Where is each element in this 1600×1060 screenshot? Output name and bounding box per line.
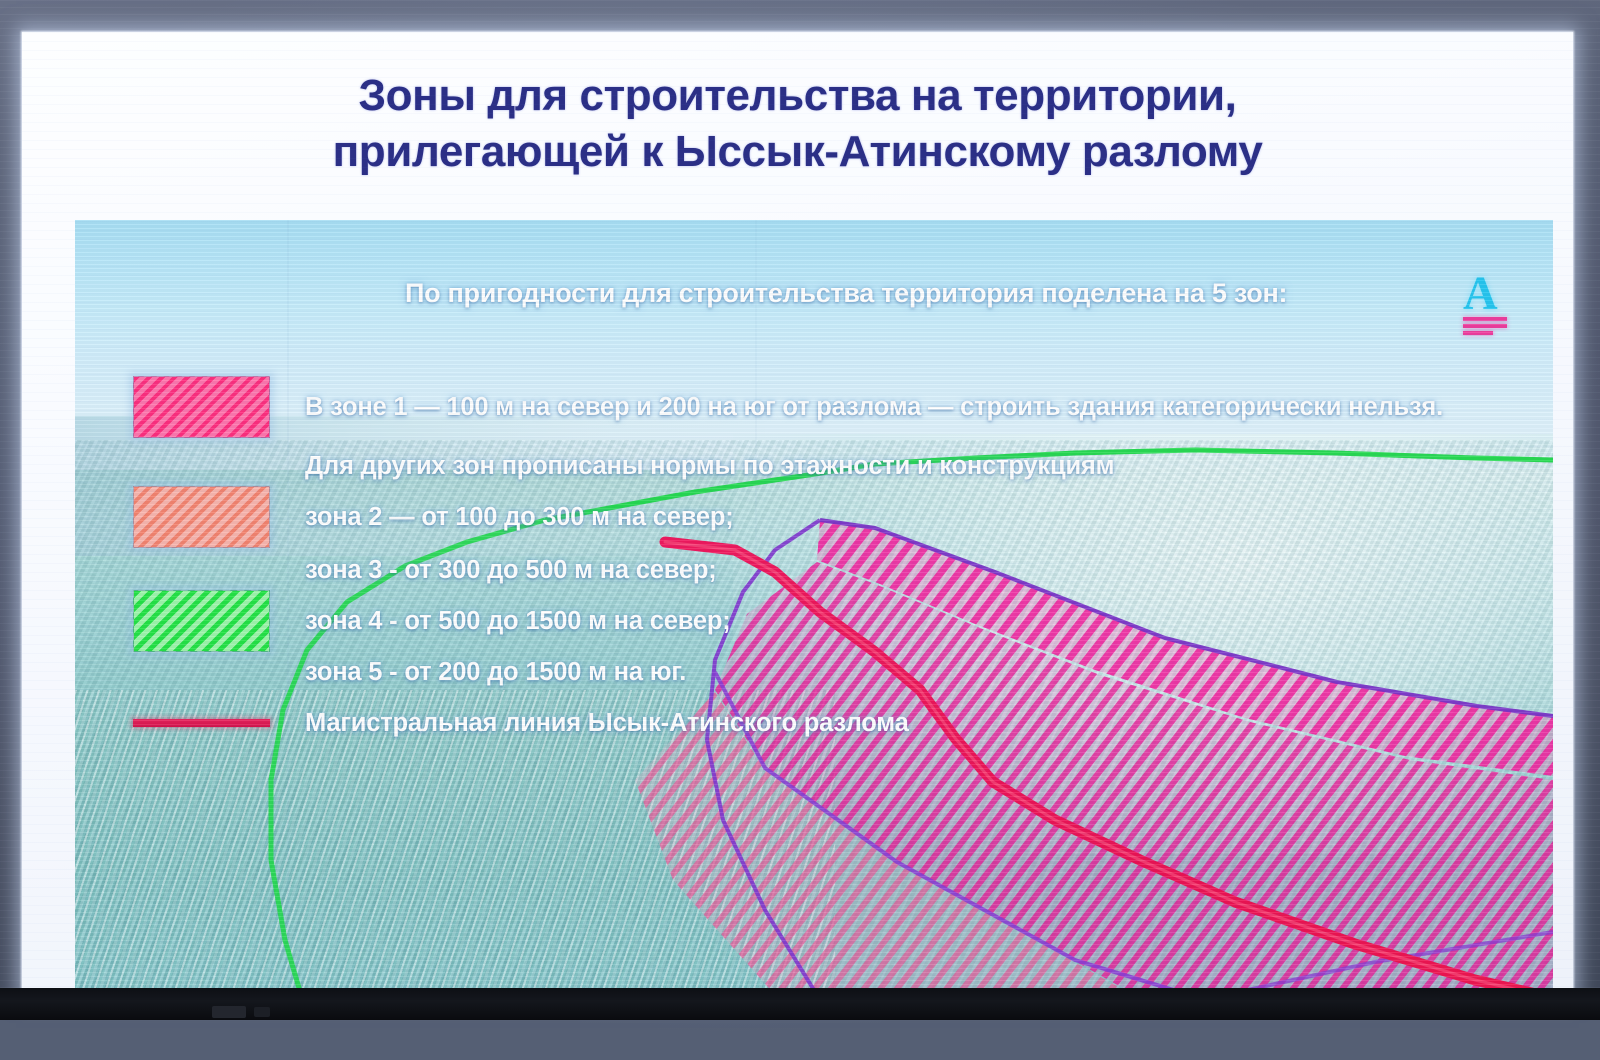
- legend-swatch-cell: [97, 590, 305, 652]
- legend-row: зона 5 - от 200 до 1500 м на юг.: [97, 646, 1527, 698]
- page-title: Зоны для строительства на территории, пр…: [22, 68, 1573, 181]
- map-legend: В зоне 1 — 100 м на север и 200 на юг от…: [97, 372, 1527, 748]
- legend-row: зона 4 - от 500 до 1500 м на север;: [97, 596, 1527, 646]
- legend-swatch-cell: [97, 376, 305, 438]
- legend-row: Магистральная линия Ысык-Атинского разло…: [97, 698, 1527, 748]
- legend-row-label: В зоне 1 — 100 м на север и 200 на юг от…: [305, 393, 1443, 422]
- logo-bar-3: [1463, 331, 1493, 335]
- zone-1-swatch: [133, 376, 270, 438]
- legend-row-label: зона 4 - от 500 до 1500 м на север;: [305, 607, 731, 636]
- logo-bar-2: [1463, 324, 1507, 328]
- legend-row: В зоне 1 — 100 м на север и 200 на юг от…: [97, 372, 1527, 442]
- foreground-stage-bar: [0, 988, 1600, 1020]
- legend-swatch-cell: [97, 486, 305, 548]
- legend-row: зона 2 — от 100 до 300 м на север;: [97, 490, 1527, 544]
- legend-row: Для других зон прописаны нормы по этажно…: [97, 442, 1527, 490]
- legend-row-label: Для других зон прописаны нормы по этажно…: [305, 452, 1114, 481]
- map-subtitle: По пригодности для строительства террито…: [405, 278, 1287, 309]
- legend-row-label: зона 3 - от 300 до 500 м на север;: [305, 556, 717, 585]
- fault-line-swatch: [133, 719, 270, 727]
- zone-4-swatch: [133, 590, 270, 652]
- legend-swatch-cell: [97, 719, 305, 727]
- legend-row-label: зона 5 - от 200 до 1500 м на юг.: [305, 658, 686, 687]
- akipress-logo: А: [1463, 272, 1519, 334]
- page-title-line-1: Зоны для строительства на территории,: [22, 68, 1573, 124]
- page-title-line-2: прилегающей к Ыссык-Атинскому разлому: [22, 124, 1573, 180]
- legend-row-label: Магистральная линия Ысык-Атинского разло…: [305, 709, 909, 738]
- zone-2-swatch: [133, 486, 270, 548]
- legend-row-label: зона 2 — от 100 до 300 м на север;: [305, 503, 734, 532]
- zoning-map-panel: По пригодности для строительства террито…: [75, 220, 1553, 995]
- logo-letter: А: [1463, 272, 1519, 316]
- stage-object-2: [254, 1007, 270, 1017]
- legend-row: зона 3 - от 300 до 500 м на север;: [97, 544, 1527, 596]
- stage-object-1: [212, 1006, 246, 1018]
- presentation-slide: Зоны для строительства на территории, пр…: [22, 32, 1573, 995]
